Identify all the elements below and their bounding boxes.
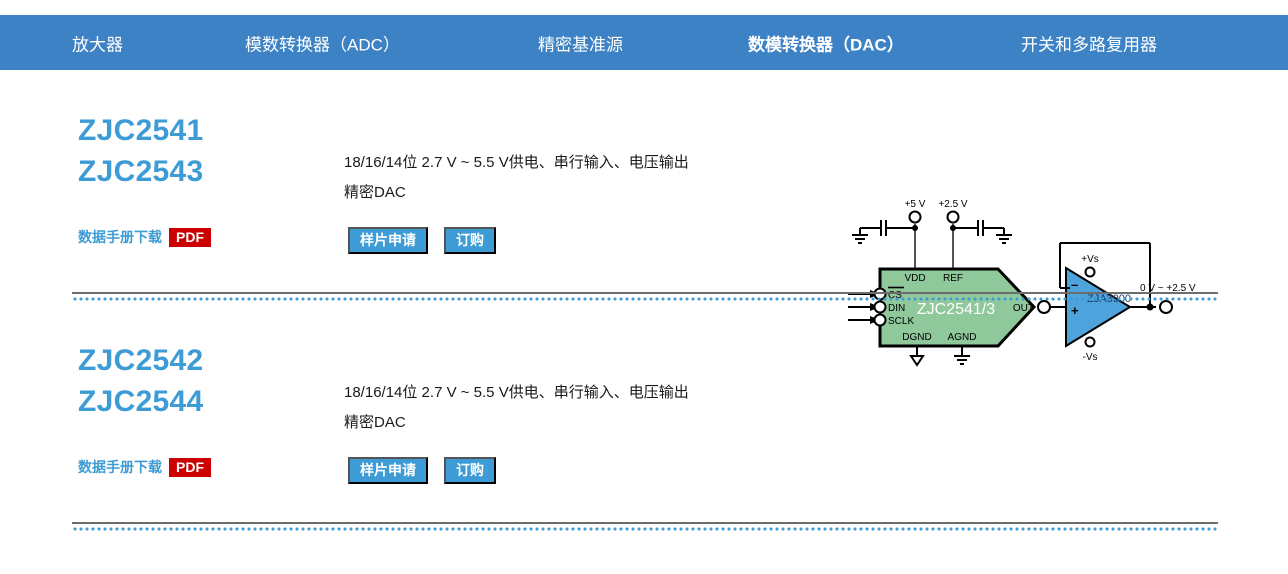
product-part-number-link[interactable]: ZJC2543	[78, 151, 204, 192]
product-action-buttons: 样片申请 订购	[348, 227, 496, 254]
description-line: 18/16/14位 2.7 V ~ 5.5 V供电、串行输入、电压输出	[344, 148, 774, 178]
chip-pin-ref: REF	[943, 273, 963, 284]
page-root: 放大器 模数转换器（ADC） 精密基准源 数模转换器（DAC） 开关和多路复用器…	[0, 0, 1288, 574]
chip-pin-sclk: SCLK	[888, 316, 914, 327]
description-line: 精密DAC	[344, 408, 774, 438]
output-terminal	[1160, 301, 1172, 313]
product-row-zjc2542: ZJC2542 ZJC2544 18/16/14位 2.7 V ~ 5.5 V供…	[0, 340, 1288, 515]
datasheet-label: 数据手册下载	[78, 227, 162, 247]
chip-pin-din: DIN	[888, 303, 905, 314]
junction-dot	[1147, 304, 1154, 311]
sample-request-button[interactable]: 样片申请	[348, 457, 428, 484]
product-part-number-link[interactable]: ZJC2541	[78, 110, 204, 151]
nav-item-voltage-reference[interactable]: 精密基准源	[538, 30, 623, 55]
product-title-group: ZJC2541 ZJC2543	[78, 110, 204, 192]
chip-pin-vdd: VDD	[904, 273, 925, 284]
description-line: 18/16/14位 2.7 V ~ 5.5 V供电、串行输入、电压输出	[344, 378, 774, 408]
divider-solid-line	[72, 522, 1218, 524]
order-button[interactable]: 订购	[444, 457, 496, 484]
divider-solid-line	[72, 292, 1218, 294]
nav-item-switches-multiplexers[interactable]: 开关和多路复用器	[1021, 30, 1157, 55]
nav-item-adc[interactable]: 模数转换器（ADC）	[245, 30, 400, 55]
product-part-number-link[interactable]: ZJC2544	[78, 381, 204, 422]
pin-circle	[875, 315, 886, 326]
nav-item-dac[interactable]: 数模转换器（DAC）	[748, 30, 904, 55]
order-button[interactable]: 订购	[444, 227, 496, 254]
opamp-inverting-input-sign: –	[1071, 277, 1078, 292]
terminal-circle	[910, 212, 921, 223]
pin-circle	[1038, 301, 1050, 313]
divider-dotted-line	[72, 297, 1218, 301]
product-part-number-link[interactable]: ZJC2542	[78, 340, 204, 381]
chip-pin-out: OUT	[1013, 303, 1034, 314]
pin-circle	[875, 302, 886, 313]
divider-dotted-line	[72, 527, 1218, 531]
product-row-zjc2541: ZJC2541 ZJC2543 18/16/14位 2.7 V ~ 5.5 V供…	[0, 110, 1288, 285]
datasheet-download-link[interactable]: 数据手册下载 PDF	[78, 457, 211, 477]
top-navigation-bar: 放大器 模数转换器（ADC） 精密基准源 数模转换器（DAC） 开关和多路复用器	[0, 15, 1288, 70]
section-divider	[72, 522, 1218, 531]
product-description: 18/16/14位 2.7 V ~ 5.5 V供电、串行输入、电压输出 精密DA…	[344, 378, 774, 438]
section-divider	[72, 292, 1218, 301]
terminal-circle	[948, 212, 959, 223]
datasheet-download-link[interactable]: 数据手册下载 PDF	[78, 227, 211, 247]
sample-request-button[interactable]: 样片申请	[348, 227, 428, 254]
product-action-buttons: 样片申请 订购	[348, 457, 496, 484]
datasheet-label: 数据手册下载	[78, 457, 162, 477]
nav-item-amplifiers[interactable]: 放大器	[72, 30, 123, 55]
terminal-circle	[1086, 268, 1095, 277]
chip-part-label: ZJC2541/3	[917, 301, 995, 318]
product-title-group: ZJC2542 ZJC2544	[78, 340, 204, 422]
opamp-noninverting-input-sign: +	[1071, 303, 1079, 318]
description-line: 精密DAC	[344, 178, 774, 208]
supply-label-5v: +5 V	[905, 199, 926, 210]
opamp-positive-supply-label: +Vs	[1081, 254, 1099, 265]
pdf-badge-icon[interactable]: PDF	[169, 228, 211, 247]
pdf-badge-icon[interactable]: PDF	[169, 458, 211, 477]
supply-label-2v5: +2.5 V	[938, 199, 968, 210]
product-description: 18/16/14位 2.7 V ~ 5.5 V供电、串行输入、电压输出 精密DA…	[344, 148, 774, 208]
